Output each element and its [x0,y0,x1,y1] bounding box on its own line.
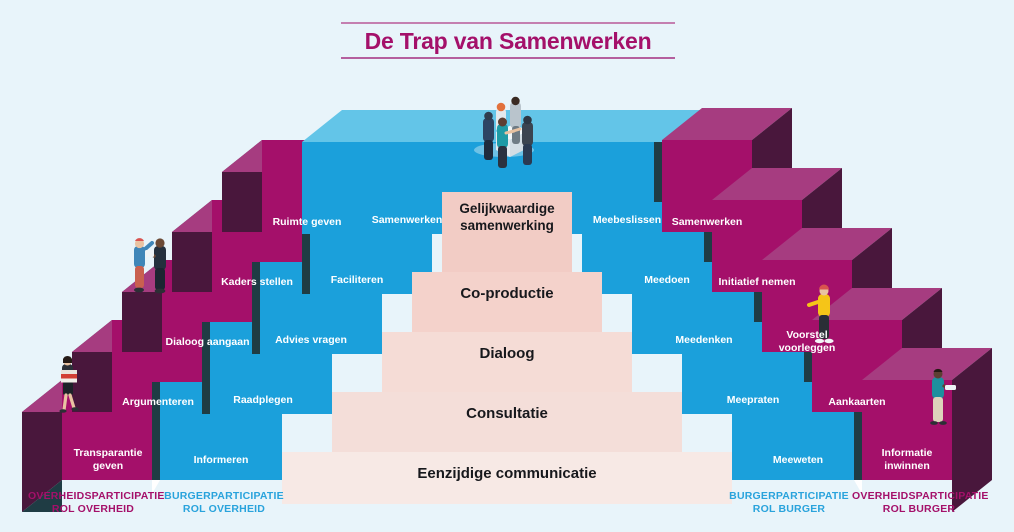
category-right-inner-line1: BURGERPARTICIPATIE [728,490,850,503]
center-step-2 [332,392,682,452]
stairs-diagram: .mf { fill:#a4106a; } .mt { fill:#a63c80… [0,32,1014,532]
category-left-inner: BURGERPARTICIPATIE ROL OVERHEID [163,490,285,515]
category-right-inner-line2: ROL BURGER [728,503,850,516]
right-outer-step-1 [862,348,992,512]
category-right-outer: OVERHEIDSPARTICIPATIE ROL BURGER [852,490,986,515]
center-step-5 [442,192,572,272]
center-step-3 [382,332,632,392]
center-step-1 [282,452,732,504]
category-left-outer-line2: ROL OVERHEID [28,503,158,516]
category-right-outer-line2: ROL BURGER [852,503,986,516]
category-left-outer: OVERHEIDSPARTICIPATIE ROL OVERHEID [28,490,158,515]
category-left-inner-line2: ROL OVERHEID [163,503,285,516]
category-left-outer-line1: OVERHEIDSPARTICIPATIE [28,490,158,503]
center-step-4 [412,272,602,332]
category-right-inner: BURGERPARTICIPATIE ROL BURGER [728,490,850,515]
category-left-inner-line1: BURGERPARTICIPATIE [163,490,285,503]
category-right-outer-line1: OVERHEIDSPARTICIPATIE [852,490,986,503]
infographic-canvas: De Trap van Samenwerken .mf { fill:#a410… [0,0,1014,532]
